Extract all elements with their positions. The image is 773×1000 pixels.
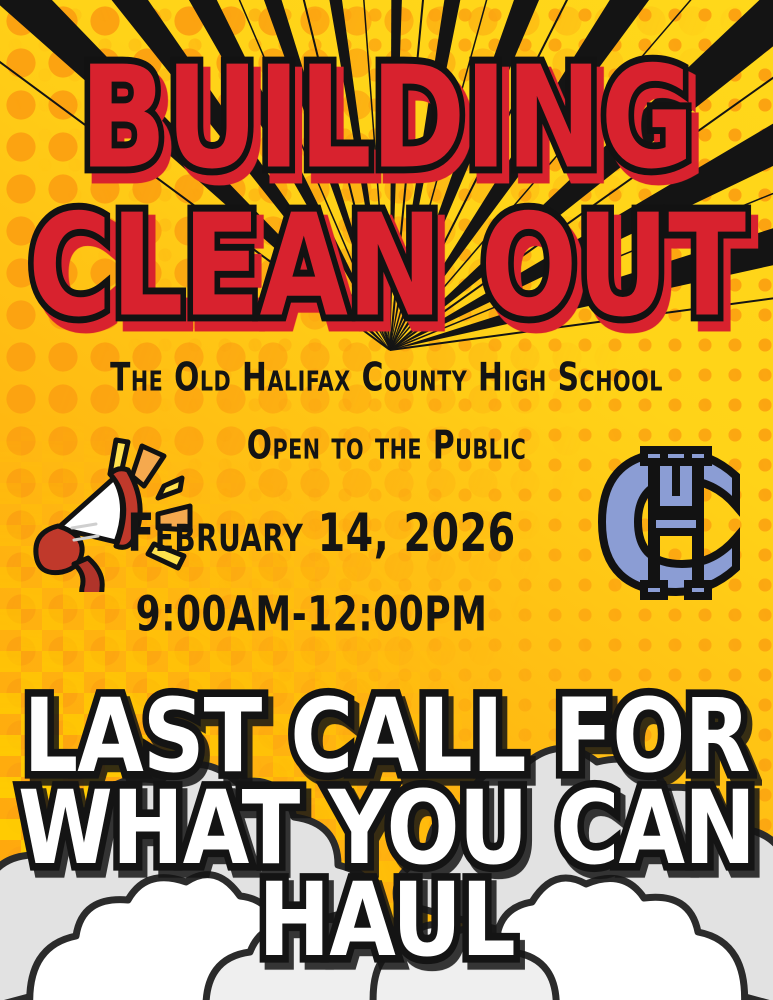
headline-line-3: HAUL — [0, 870, 773, 971]
poster-title-line-2: CLEAN OUT — [0, 196, 773, 337]
audience-text: Open to the Public — [0, 425, 773, 465]
poster-canvas: BUILDING CLEAN OUT The Old Halifax Count… — [0, 0, 773, 1000]
event-time-text: 9:00AM-12:00PM — [40, 591, 583, 639]
poster-title-line-1: BUILDING — [0, 48, 773, 189]
venue-text: The Old Halifax County High School — [0, 357, 773, 397]
event-date-text: February 14, 2026 — [40, 508, 603, 561]
